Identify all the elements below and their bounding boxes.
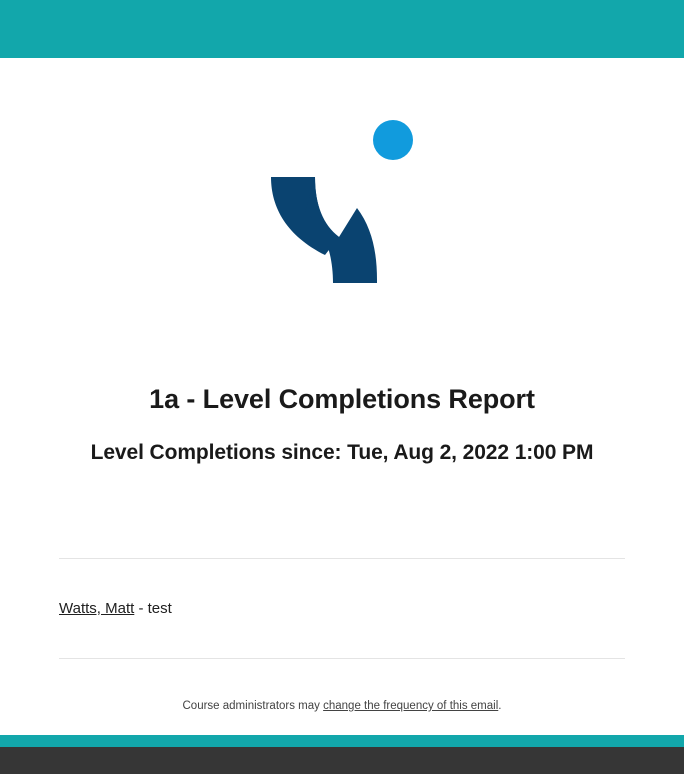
student-profile-link[interactable]: Watts, Matt: [59, 600, 134, 617]
report-subtitle: Level Completions since: Tue, Aug 2, 202…: [0, 440, 684, 466]
divider-top: [59, 558, 625, 559]
footer-note-suffix: .: [498, 700, 501, 712]
completion-course-name: test: [148, 600, 172, 617]
company-logo: [265, 120, 420, 290]
email-body: 1a - Level Completions Report Level Comp…: [0, 0, 684, 774]
footer-note: Course administrators may change the fre…: [0, 698, 684, 715]
email-content-region: 1a - Level Completions Report Level Comp…: [0, 58, 684, 735]
bottom-dark-banner: [0, 747, 684, 774]
heading-block: 1a - Level Completions Report Level Comp…: [0, 383, 684, 466]
logo-container: [0, 120, 684, 368]
footer-note-prefix: Course administrators may: [183, 700, 324, 712]
bottom-teal-banner: [0, 735, 684, 747]
change-email-frequency-link[interactable]: change the frequency of this email: [323, 700, 498, 712]
completion-separator: -: [134, 600, 147, 617]
completion-list-item: Watts, Matt - test: [59, 598, 172, 619]
divider-bottom: [59, 658, 625, 659]
logo-blue-dot-icon: [373, 120, 413, 160]
report-title: 1a - Level Completions Report: [0, 383, 684, 417]
top-teal-banner: [0, 0, 684, 58]
